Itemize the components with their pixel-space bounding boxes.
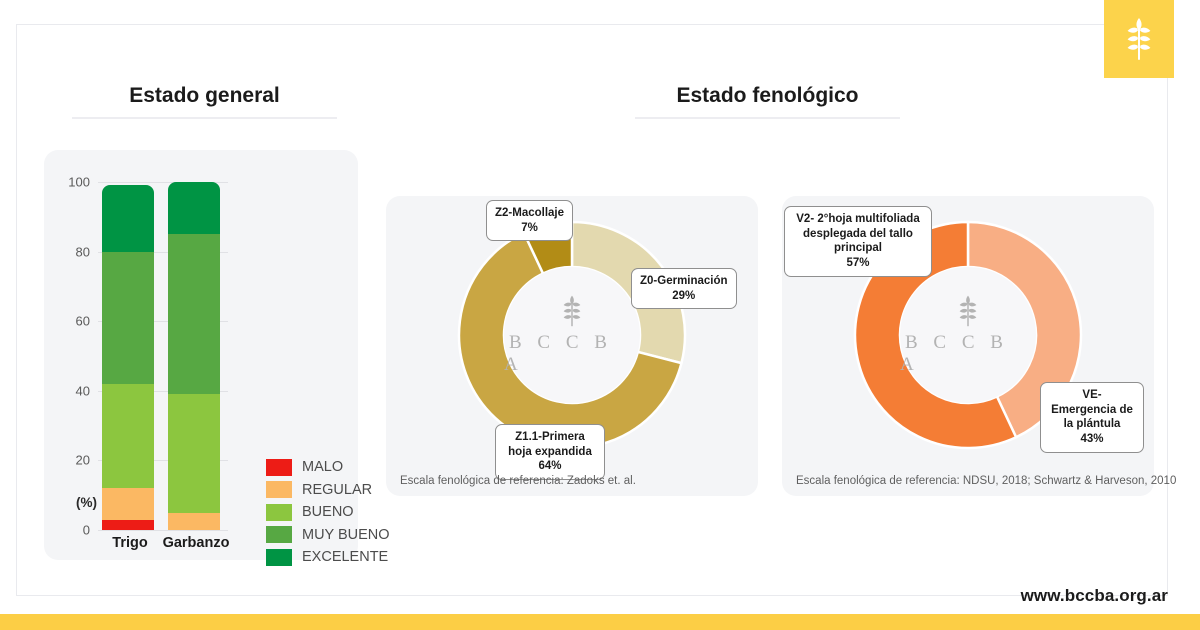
bar-segment-excelente [102,185,154,251]
bccba-wordmark: B C C B A [504,332,640,376]
callout-label: Z0-Germinación [640,275,728,287]
y-axis-title: (%) [76,495,97,510]
y-tick-label: 80 [76,244,90,259]
bar-segment-bueno [102,384,154,488]
footnote-escala-zadoks: Escala fenológica de referencia: Zadoks … [400,475,636,487]
bottom-accent-bar [0,614,1200,630]
stacked-bar-garbanzo[interactable] [168,182,220,530]
bar-segment-regular [102,488,154,519]
callout-z11-primera-hoja-expandida[interactable]: Z1.1-Primera hoja expandida 64% [495,424,605,480]
y-tick-label: 20 [76,453,90,468]
donut-center-logo: B C C B A [900,267,1036,403]
callout-percent: 64% [504,459,596,474]
legend-swatch [266,481,292,498]
bar-segment-muy-bueno [102,252,154,384]
bar-plot-area: 100 80 60 40 20 0 Trigo Garbanzo [98,182,228,530]
callout-percent: 7% [495,221,564,236]
site-url[interactable]: www.bccba.org.ar [0,586,1168,606]
callout-percent: 43% [1049,432,1135,447]
callout-percent: 29% [640,289,728,304]
y-tick-label: 60 [76,314,90,329]
legend-item-malo[interactable]: MALO [266,456,390,479]
legend-item-excelente[interactable]: EXCELENTE [266,546,390,569]
bar-segment-bueno [168,394,220,512]
legend-swatch [266,549,292,566]
callout-label: V2- 2°hoja multifoliada desplegada del t… [796,213,919,254]
legend-label: MUY BUENO [302,527,390,543]
bccba-wordmark: B C C B A [900,332,1036,376]
stacked-bar-trigo[interactable] [102,185,154,530]
legend-swatch [266,459,292,476]
callout-z2-macollaje[interactable]: Z2-Macollaje 7% [486,200,573,241]
title-underline [72,117,337,119]
legend-item-muy-bueno[interactable]: MUY BUENO [266,524,390,547]
callout-v2-hoja-multifoliada[interactable]: V2- 2°hoja multifoliada desplegada del t… [784,206,932,277]
legend-swatch [266,526,292,543]
y-tick-label: 40 [76,383,90,398]
callout-ve-emergencia-plantula[interactable]: VE- Emergencia de la plántula 43% [1040,382,1144,453]
legend-label: BUENO [302,504,354,520]
footnote-escala-ndsu: Escala fenológica de referencia: NDSU, 2… [796,475,1176,487]
wheat-icon [561,294,583,328]
callout-z0-germinacion[interactable]: Z0-Germinación 29% [631,268,737,309]
legend-label: MALO [302,459,343,475]
legend-swatch [266,504,292,521]
estado-general-chart-panel: (%) 100 80 60 40 20 0 Trigo [44,150,358,560]
gridline-0: 0 [98,530,228,531]
section-title-text: Estado fenológico [676,84,858,107]
donut-chart-trigo[interactable]: B C C B A [447,210,697,460]
bar-segment-excelente [168,182,220,234]
bar-category-label-garbanzo: Garbanzo [150,535,242,551]
donut-center-logo: B C C B A [504,267,640,403]
bar-segment-regular [168,513,220,530]
legend-item-regular[interactable]: REGULAR [266,479,390,502]
fenologico-trigo-panel: B C C B A Z2-Macollaje 7% Z0-Germinación… [386,196,758,496]
wheat-icon [1124,16,1154,62]
legend-label: EXCELENTE [302,549,388,565]
bar-segment-malo [102,520,154,530]
legend-label: REGULAR [302,482,372,498]
y-tick-label: 100 [68,175,90,190]
wheat-icon [957,294,979,328]
y-tick-label: 0 [83,523,90,538]
fenologico-garbanzo-panel: B C C B A V2- 2°hoja multifoliada desple… [782,196,1154,496]
callout-label: VE- Emergencia de la plántula [1051,389,1133,430]
bar-segment-muy-bueno [168,234,220,394]
callout-percent: 57% [793,256,923,271]
legend-item-bueno[interactable]: BUENO [266,501,390,524]
section-title-text: Estado general [129,84,280,107]
callout-label: Z1.1-Primera hoja expandida [508,431,592,458]
slide-root: Estado general Estado fenológico (%) 100… [0,0,1200,630]
section-title-estado-fenologico: Estado fenológico [635,84,900,119]
section-title-estado-general: Estado general [72,84,337,119]
callout-label: Z2-Macollaje [495,207,564,219]
title-underline [635,117,900,119]
brand-logo-square [1104,0,1174,78]
bar-chart-legend: MALOREGULARBUENOMUY BUENOEXCELENTE [266,456,390,569]
